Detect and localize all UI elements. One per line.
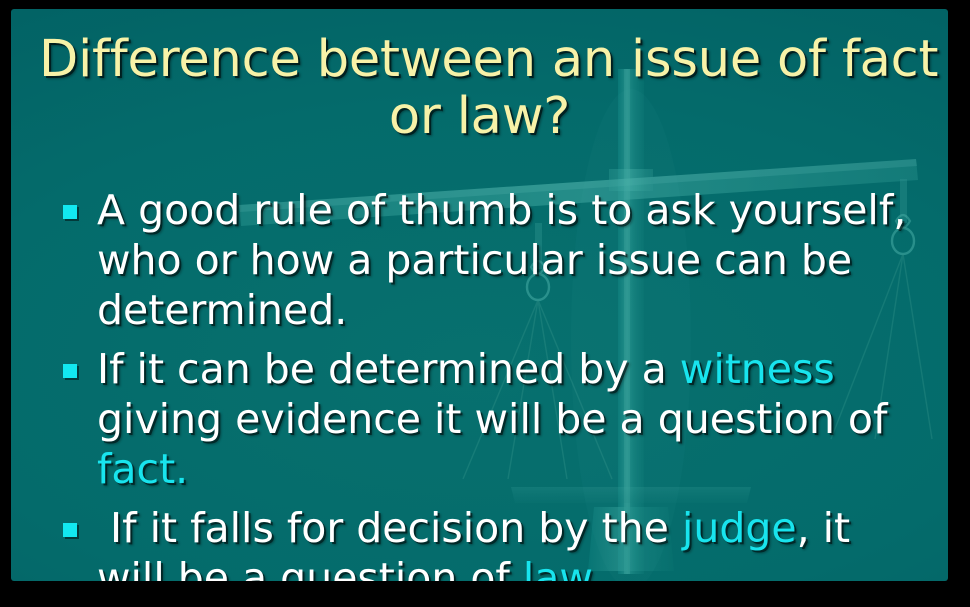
bullet-text-2: If it can be determined by a witness giv… xyxy=(97,344,925,494)
title-line-1: Difference between an issue of fact xyxy=(39,31,920,88)
highlighted-term: judge xyxy=(682,504,797,552)
bullet-square-icon xyxy=(63,523,77,537)
body-text-run: If it can be determined by a xyxy=(97,345,680,393)
body-text-run: A good rule of thumb is to ask yourself,… xyxy=(97,186,919,334)
bullet-square-icon xyxy=(63,364,77,378)
slide-title: Difference between an issue of fact or l… xyxy=(11,31,948,145)
bullet-text-1: A good rule of thumb is to ask yourself,… xyxy=(97,185,925,335)
slide-canvas: Difference between an issue of fact or l… xyxy=(11,9,948,581)
highlighted-term: law. xyxy=(523,554,602,581)
highlighted-term: witness xyxy=(680,345,835,393)
title-line-2: or law? xyxy=(39,88,920,145)
bullet-list: A good rule of thumb is to ask yourself,… xyxy=(63,185,925,581)
body-text-run: If it falls for decision by the xyxy=(97,504,682,552)
bullet-text-3: If it falls for decision by the judge, i… xyxy=(97,503,925,581)
list-item: If it falls for decision by the judge, i… xyxy=(63,503,925,581)
list-item: If it can be determined by a witness giv… xyxy=(63,344,925,494)
highlighted-term: fact. xyxy=(97,445,188,493)
list-item: A good rule of thumb is to ask yourself,… xyxy=(63,185,925,335)
bullet-square-icon xyxy=(63,205,77,219)
slide-frame: Difference between an issue of fact or l… xyxy=(0,0,970,607)
